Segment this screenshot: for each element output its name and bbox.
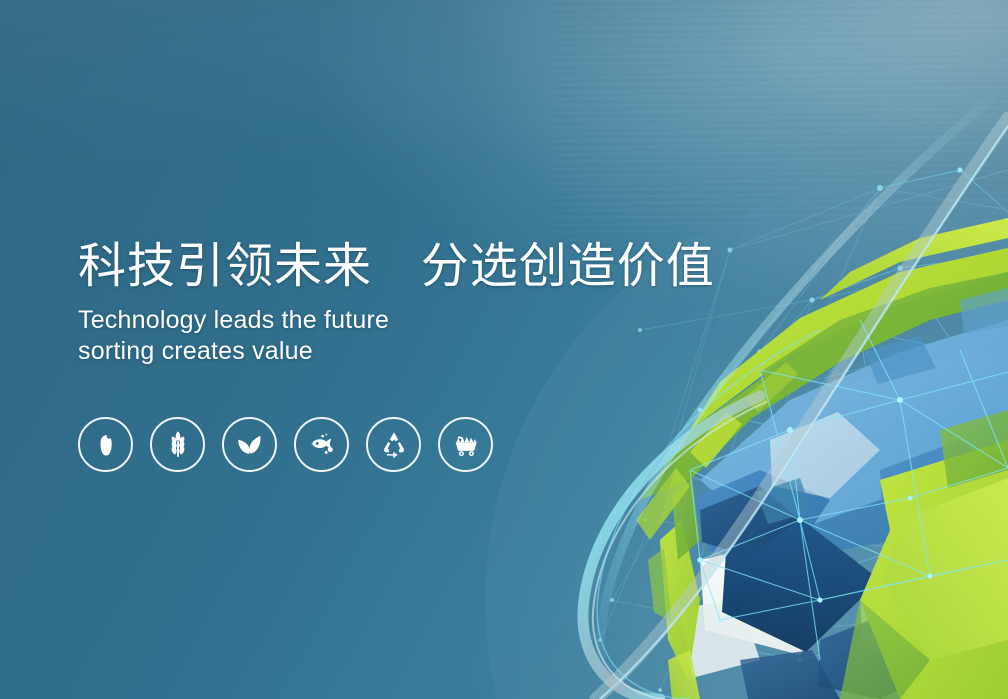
icon-badge-wheat[interactable] [150,417,205,472]
industry-icon-row [78,417,493,472]
icon-badge-leaf[interactable] [222,417,277,472]
hero-text-block: 科技引领未来 分选创造价值 Technology leads the futur… [78,238,778,367]
subtitle-line-2: sorting creates value [78,336,778,367]
icon-badge-rice-grain[interactable] [78,417,133,472]
subtitle-line-1: Technology leads the future [78,305,778,336]
hero-banner: 科技引领未来 分选创造价值 Technology leads the futur… [0,0,1008,699]
icon-badge-recycle[interactable] [366,417,421,472]
recycle-icon [378,429,410,461]
wheat-icon [162,429,194,461]
icon-badge-seafood[interactable] [294,417,349,472]
mining-cart-icon [449,428,483,462]
leaf-icon [234,429,266,461]
page-subtitle: Technology leads the future sorting crea… [78,305,778,367]
page-title: 科技引领未来 分选创造价值 [78,238,778,295]
icon-badge-mining-cart[interactable] [438,417,493,472]
seafood-icon [306,429,338,461]
rice-grain-icon [91,430,121,460]
